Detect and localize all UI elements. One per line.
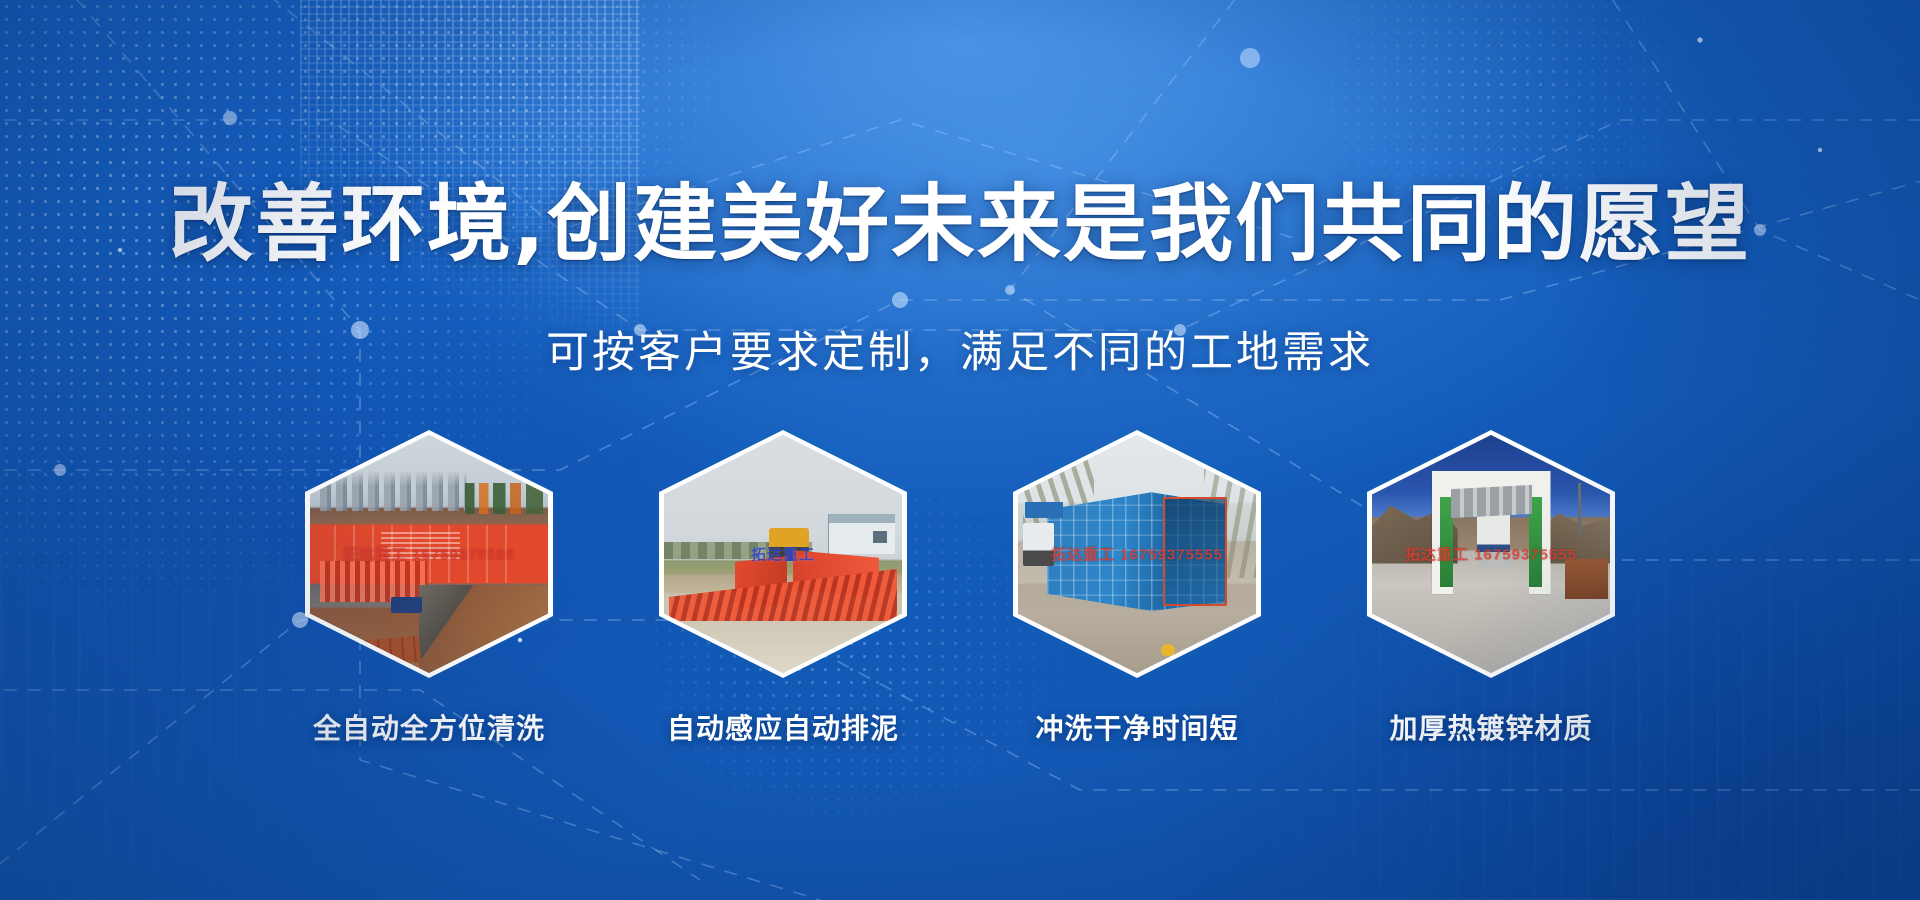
page-subtitle: 可按客户要求定制，满足不同的工地需求: [0, 332, 1920, 375]
feature-card[interactable]: 拓达重工 16759375555 冲洗干净时间短: [1013, 430, 1261, 747]
hexagon-photo-clip: 拓达重工 16759375555: [1372, 435, 1610, 673]
hexagon-frame: 拓达重工: [659, 430, 907, 678]
feature-card-caption: 冲洗干净时间短: [1035, 707, 1238, 747]
page-title: 改善环境,创建美好未来是我们共同的愿望: [0, 182, 1920, 266]
promo-banner: 改善环境,创建美好未来是我们共同的愿望 可按客户要求定制，满足不同的工地需求 拓…: [0, 0, 1920, 900]
feature-card-caption: 全自动全方位清洗: [313, 707, 545, 747]
hexagon-photo-clip: 拓达重工 16759375555: [310, 435, 548, 673]
feature-card[interactable]: 拓达重工 16759375555 全自动全方位清洗: [305, 430, 553, 747]
product-photo: [1372, 435, 1610, 673]
feature-card-caption: 加厚热镀锌材质: [1389, 707, 1592, 747]
hexagon-photo-clip: 拓达重工 16759375555: [1018, 435, 1256, 673]
hexagon-frame: 拓达重工 16759375555: [305, 430, 553, 678]
feature-card-list: 拓达重工 16759375555 全自动全方位清洗 拓达重工 自动感应自动: [0, 430, 1920, 750]
product-photo: [664, 435, 902, 673]
hexagon-frame: 拓达重工 16759375555: [1367, 430, 1615, 678]
hexagon-frame: 拓达重工 16759375555: [1013, 430, 1261, 678]
hexagon-photo-clip: 拓达重工: [664, 435, 902, 673]
feature-card-caption: 自动感应自动排泥: [667, 707, 899, 747]
product-photo: [1018, 435, 1256, 673]
feature-card[interactable]: 拓达重工 16759375555 加厚热镀锌材质: [1367, 430, 1615, 747]
feature-card[interactable]: 拓达重工 自动感应自动排泥: [659, 430, 907, 747]
product-photo: [310, 435, 548, 673]
